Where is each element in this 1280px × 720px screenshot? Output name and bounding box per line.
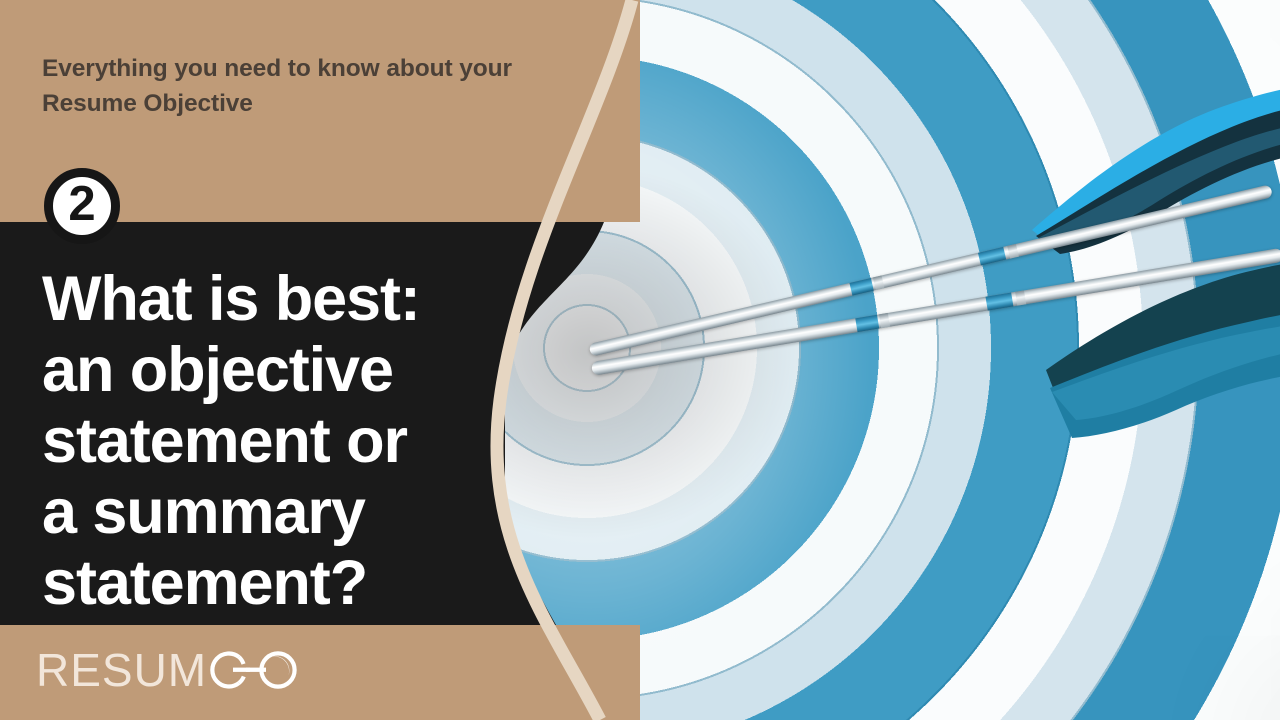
headline-line-2: an objective [42,335,492,406]
logo-go-icon [209,645,305,695]
arrow-fletching-upper [1020,78,1280,258]
headline-line-4: a summary [42,477,492,548]
page-title: What is best: an objective statement or … [42,264,492,619]
promo-banner: Everything you need to know about your R… [0,0,1280,720]
arrow-collar-lower-1 [879,313,890,328]
arrow-collar-lower-2 [1015,290,1026,305]
headline-line-5: statement? [42,548,492,619]
arrow-collar-upper-1 [873,275,885,290]
logo-wordmark: RESUM [36,647,207,693]
step-number-label: 2 [68,180,95,229]
headline-line-1: What is best: [42,264,492,335]
headline-line-3: statement or [42,406,492,477]
eyebrow-text: Everything you need to know about your R… [42,52,582,122]
step-number-badge: 2 [44,168,120,244]
arrow-collar-upper-2 [1007,244,1019,259]
resumgo-logo[interactable]: RESUM [36,645,305,695]
